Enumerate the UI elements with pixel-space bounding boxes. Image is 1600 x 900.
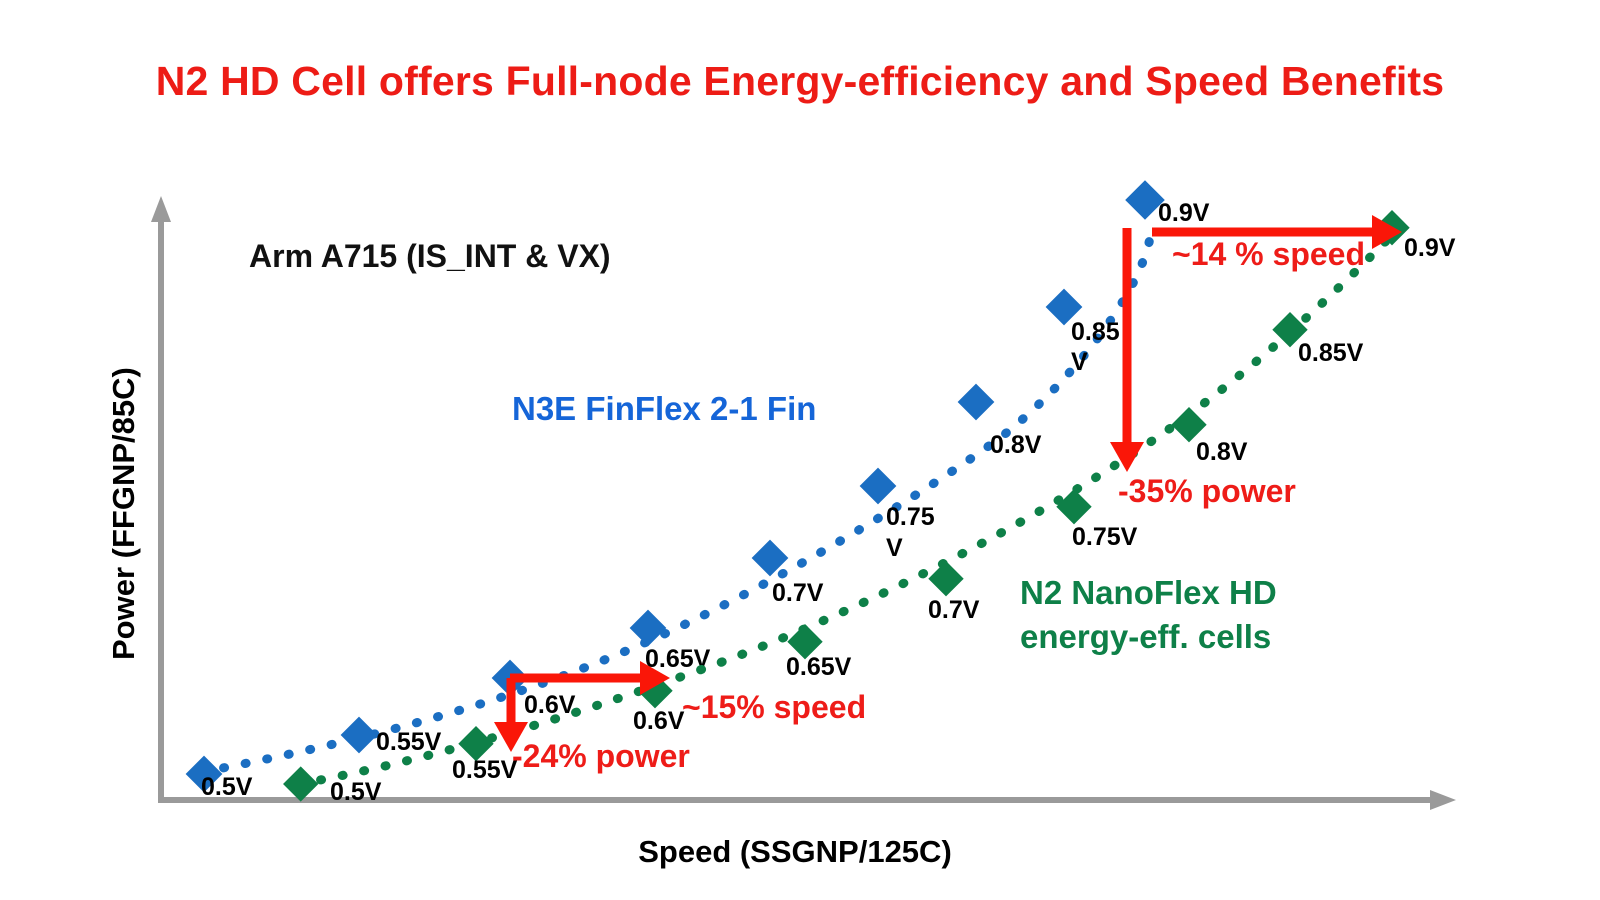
vlabel-n3e-0.6v: 0.6V bbox=[524, 691, 576, 719]
vlabel-n3e-0.85v-line1: 0.85 bbox=[1071, 318, 1120, 346]
series-label-n3e: N3E FinFlex 2-1 Fin bbox=[512, 390, 816, 427]
x-axis-label: Speed (SSGNP/125C) bbox=[638, 834, 952, 869]
marker-n2-0.5v bbox=[283, 766, 318, 801]
vlabel-n3e-0.85v-line2: V bbox=[1071, 348, 1088, 376]
annotation-power-low: -24% power bbox=[512, 738, 690, 774]
power-vs-speed-chart: Power (FFGNP/85C) Speed (SSGNP/125C) Arm… bbox=[0, 0, 1600, 900]
marker-n3e-0.55v bbox=[341, 717, 378, 754]
marker-n2-0.75v bbox=[1056, 489, 1091, 524]
vlabel-n3e-0.75v-line2: V bbox=[886, 534, 903, 562]
annotation-speed-high: ~14 % speed bbox=[1172, 236, 1365, 272]
marker-n3e-0.8v bbox=[958, 384, 995, 421]
vlabel-n2-0.5v: 0.5V bbox=[330, 778, 382, 806]
annotation-speed-low: ~15% speed bbox=[682, 689, 866, 725]
vlabel-n3e-0.5v: 0.5V bbox=[201, 773, 253, 801]
vlabel-n2-0.65v: 0.65V bbox=[786, 653, 852, 681]
vlabel-n3e-0.9v: 0.9V bbox=[1158, 199, 1210, 227]
vlabel-n2-0.9v: 0.9V bbox=[1404, 234, 1456, 262]
vlabel-n3e-0.55v: 0.55V bbox=[376, 728, 442, 756]
vlabel-n3e-0.7v: 0.7V bbox=[772, 579, 824, 607]
x-axis-arrowhead bbox=[1430, 790, 1456, 810]
slide-canvas: N2 HD Cell offers Full-node Energy-effic… bbox=[0, 0, 1600, 900]
series-n3e-dotted-line bbox=[202, 238, 1150, 772]
series-label-n2-line2: energy-eff. cells bbox=[1020, 618, 1271, 655]
series-label-n2-line1: N2 NanoFlex HD bbox=[1020, 574, 1277, 611]
vlabel-n2-0.7v: 0.7V bbox=[928, 596, 980, 624]
marker-n3e-0.65v bbox=[630, 610, 667, 647]
vlabel-n2-0.75v: 0.75V bbox=[1072, 523, 1138, 551]
vlabel-n2-0.8v: 0.8V bbox=[1196, 438, 1248, 466]
vlabel-n3e-0.75v-line1: 0.75 bbox=[886, 503, 935, 531]
vlabel-n2-0.6v: 0.6V bbox=[633, 707, 685, 735]
vlabel-n2-0.55v: 0.55V bbox=[452, 756, 518, 784]
marker-n2-0.7v bbox=[928, 561, 963, 596]
workload-note: Arm A715 (IS_INT & VX) bbox=[249, 238, 611, 274]
y-axis-label: Power (FFGNP/85C) bbox=[106, 367, 141, 660]
vlabel-n2-0.85v: 0.85V bbox=[1298, 339, 1364, 367]
annotation-power-high: -35% power bbox=[1118, 473, 1296, 509]
y-axis-arrowhead bbox=[151, 196, 171, 222]
marker-n3e-0.75v bbox=[860, 468, 897, 505]
vlabel-n3e-0.8v: 0.8V bbox=[990, 431, 1042, 459]
